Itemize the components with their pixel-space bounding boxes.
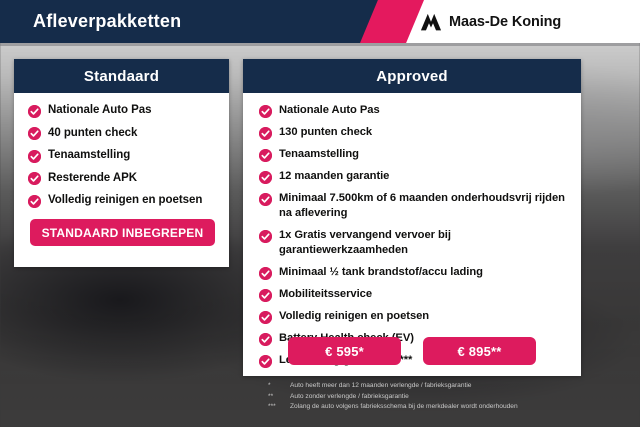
- footnote-text: Zolang de auto volgens fabrieksschema bi…: [290, 402, 628, 413]
- feature-label: Resterende APK: [48, 171, 137, 185]
- card-title-standaard: Standaard: [14, 59, 229, 93]
- page-title: Afleverpakketten: [33, 0, 181, 43]
- list-item: Volledig reinigen en poetsen: [28, 193, 217, 208]
- feature-label: 12 maanden garantie: [279, 169, 389, 184]
- card-body-approved: Nationale Auto Pas 130 punten check Tena…: [243, 93, 581, 368]
- feature-label: Nationale Auto Pas: [48, 103, 151, 117]
- feature-label: Tenaamstelling: [48, 148, 130, 162]
- check-circle-icon: [259, 149, 272, 162]
- check-circle-icon: [259, 171, 272, 184]
- footnote-text: Auto heeft meer dan 12 maanden verlengde…: [290, 381, 628, 392]
- page-header: Afleverpakketten Maas-De Koning: [0, 0, 640, 43]
- header-underline: [0, 43, 640, 46]
- feature-label: 130 punten check: [279, 125, 372, 140]
- check-circle-icon: [259, 105, 272, 118]
- card-body-standaard: Nationale Auto Pas 40 punten check Tenaa…: [14, 93, 229, 208]
- check-circle-icon: [28, 127, 41, 140]
- footnote-marker: *: [268, 381, 290, 392]
- maas-de-koning-logo-icon: [420, 13, 442, 31]
- feature-label: Minimaal ½ tank brandstof/accu lading: [279, 265, 483, 280]
- list-item: Tenaamstelling: [28, 148, 217, 163]
- check-circle-icon: [259, 311, 272, 324]
- footnote-marker: ***: [268, 402, 290, 413]
- price-button-895[interactable]: € 895**: [423, 337, 536, 365]
- feature-label: Nationale Auto Pas: [279, 103, 380, 118]
- footnote-marker: **: [268, 392, 290, 403]
- feature-list-approved: Nationale Auto Pas 130 punten check Tena…: [259, 103, 569, 368]
- check-circle-icon: [259, 127, 272, 140]
- list-item: 1x Gratis vervangend vervoer bij garanti…: [259, 228, 569, 258]
- feature-label: Volledig reinigen en poetsen: [48, 193, 202, 207]
- package-card-approved: Approved Nationale Auto Pas 130 punten c…: [243, 59, 581, 376]
- list-item: Nationale Auto Pas: [259, 103, 569, 118]
- feature-label: Mobiliteitsservice: [279, 287, 372, 302]
- footnote-row: * Auto heeft meer dan 12 maanden verleng…: [268, 381, 628, 392]
- list-item: Minimaal 7.500km of 6 maanden onderhouds…: [259, 191, 569, 221]
- list-item: 40 punten check: [28, 126, 217, 141]
- footnote-row: *** Zolang de auto volgens fabrieksschem…: [268, 402, 628, 413]
- card-title-approved: Approved: [243, 59, 581, 93]
- brand-name: Maas-De Koning: [449, 14, 561, 30]
- check-circle-icon: [259, 289, 272, 302]
- feature-label: 40 punten check: [48, 126, 137, 140]
- footnote-text: Auto zonder verlengde / fabrieksgarantie: [290, 392, 628, 403]
- feature-label: Minimaal 7.500km of 6 maanden onderhouds…: [279, 191, 569, 221]
- package-card-standaard: Standaard Nationale Auto Pas 40 punten c…: [14, 59, 229, 267]
- check-circle-icon: [259, 267, 272, 280]
- check-circle-icon: [259, 193, 272, 206]
- check-circle-icon: [28, 172, 41, 185]
- list-item: Resterende APK: [28, 171, 217, 186]
- list-item: Minimaal ½ tank brandstof/accu lading: [259, 265, 569, 280]
- list-item: Volledig reinigen en poetsen: [259, 309, 569, 324]
- check-circle-icon: [28, 195, 41, 208]
- check-circle-icon: [28, 150, 41, 163]
- feature-list-standaard: Nationale Auto Pas 40 punten check Tenaa…: [28, 103, 217, 208]
- check-circle-icon: [259, 230, 272, 243]
- list-item: Tenaamstelling: [259, 147, 569, 162]
- feature-label: 1x Gratis vervangend vervoer bij garanti…: [279, 228, 569, 258]
- price-button-row: € 595* € 895**: [243, 337, 581, 365]
- list-item: 12 maanden garantie: [259, 169, 569, 184]
- check-circle-icon: [28, 105, 41, 118]
- list-item: Mobiliteitsservice: [259, 287, 569, 302]
- brand-lockup: Maas-De Koning: [420, 0, 561, 43]
- price-button-595[interactable]: € 595*: [288, 337, 401, 365]
- list-item: Nationale Auto Pas: [28, 103, 217, 118]
- list-item: 130 punten check: [259, 125, 569, 140]
- feature-label: Volledig reinigen en poetsen: [279, 309, 429, 324]
- footnote-row: ** Auto zonder verlengde / fabrieksgaran…: [268, 392, 628, 403]
- feature-label: Tenaamstelling: [279, 147, 359, 162]
- standaard-inbegrepen-button[interactable]: STANDAARD INBEGREPEN: [30, 219, 215, 246]
- footnotes: * Auto heeft meer dan 12 maanden verleng…: [268, 381, 628, 413]
